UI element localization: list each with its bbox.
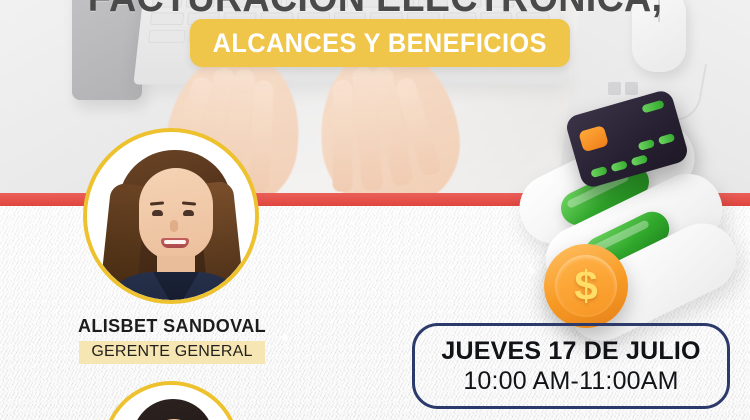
event-time: 10:00 AM-11:00AM <box>463 367 678 396</box>
screen-icons <box>608 82 638 95</box>
speaker-portrait-alisbet-sandoval <box>83 128 259 304</box>
eye-left <box>152 210 163 216</box>
page-title: FACTURACIÓN ELECTRÓNICA, <box>30 0 720 18</box>
card-chip-icon <box>578 125 609 152</box>
mouth-shape <box>161 238 189 248</box>
event-datetime-box: JUEVES 17 DE JULIO 10:00 AM-11:00AM <box>412 323 730 409</box>
dollar-symbol: $ <box>574 265 597 307</box>
speaker-role-wrap-1: GERENTE GENERAL <box>0 341 344 364</box>
dollar-coin-icon: $ <box>544 244 628 328</box>
payment-3d-illustration: $ <box>506 96 750 346</box>
subtitle-badge-label: ALCANCES Y BENEFICIOS <box>213 28 547 59</box>
webinar-poster: FACTURACIÓN ELECTRÓNICA, ALCANCES Y BENE… <box>0 0 750 420</box>
speaker-role-1: GERENTE GENERAL <box>79 341 264 364</box>
avatar <box>87 132 255 300</box>
event-date: JUEVES 17 DE JULIO <box>441 337 700 366</box>
nose-shape <box>170 220 178 232</box>
card-stripe-icon <box>641 100 664 114</box>
coin-inner: $ <box>555 255 617 317</box>
hair-shape <box>132 399 214 420</box>
speaker-name-1: ALISBET SANDOVAL <box>0 316 344 337</box>
eye-right <box>183 210 194 216</box>
card-number-row-upper <box>638 133 676 151</box>
subtitle-badge: ALCANCES Y BENEFICIOS <box>190 19 570 67</box>
